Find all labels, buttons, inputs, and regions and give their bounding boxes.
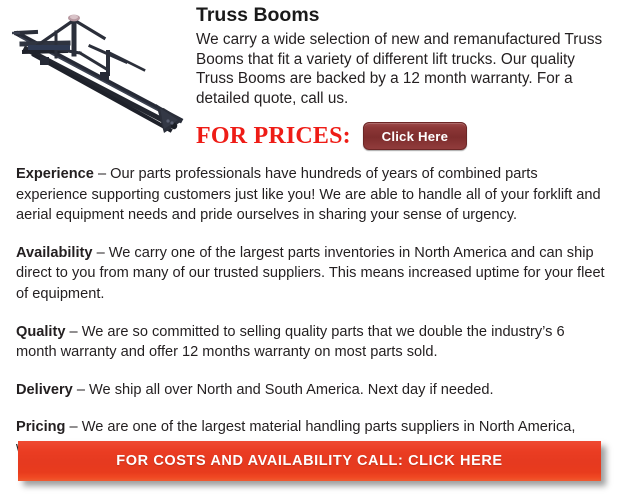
for-prices-label: FOR PRICES: — [196, 123, 351, 149]
feature-label: Availability — [16, 245, 93, 261]
product-page: Truss Booms We carry a wide selection of… — [0, 0, 619, 504]
feature-separator: – — [94, 166, 110, 182]
truss-boom-image — [4, 2, 192, 138]
feature-text: We ship all over North and South America… — [89, 382, 494, 398]
feature-label: Pricing — [16, 419, 65, 435]
feature-separator: – — [65, 324, 81, 340]
feature-delivery: Delivery – We ship all over North and So… — [16, 380, 606, 401]
feature-separator: – — [73, 382, 89, 398]
prices-row: FOR PRICES: Click Here — [196, 122, 467, 150]
feature-experience: Experience – Our parts professionals hav… — [16, 164, 606, 226]
feature-availability: Availability – We carry one of the large… — [16, 243, 606, 305]
features-list: Experience – Our parts professionals hav… — [16, 164, 606, 459]
product-header: Truss Booms We carry a wide selection of… — [0, 0, 619, 160]
feature-separator: – — [93, 245, 109, 261]
feature-label: Quality — [16, 324, 65, 340]
cta-call-button[interactable]: FOR COSTS AND AVAILABILITY CALL: CLICK H… — [18, 441, 601, 481]
feature-text: We are so committed to selling quality p… — [16, 324, 565, 361]
feature-quality: Quality – We are so committed to selling… — [16, 322, 606, 363]
feature-separator: – — [65, 419, 81, 435]
page-title: Truss Booms — [196, 4, 610, 26]
click-here-button[interactable]: Click Here — [363, 122, 467, 150]
product-photo — [4, 2, 192, 138]
product-intro: Truss Booms We carry a wide selection of… — [196, 4, 610, 108]
product-description: We carry a wide selection of new and rem… — [196, 30, 610, 108]
cta-wrapper: FOR COSTS AND AVAILABILITY CALL: CLICK H… — [18, 441, 601, 481]
feature-label: Experience — [16, 166, 94, 182]
feature-label: Delivery — [16, 382, 73, 398]
